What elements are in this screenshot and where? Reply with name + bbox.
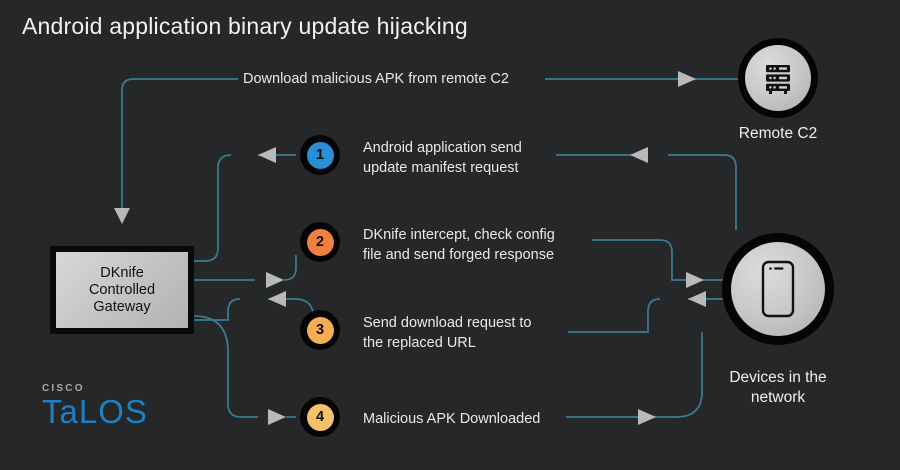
arrow-left-step1-gw	[258, 147, 276, 163]
arrow-right-step2-device	[686, 272, 704, 288]
devices-face	[731, 242, 825, 336]
devices-label: Devices in the network	[698, 368, 858, 408]
page-title: Android application binary update hijack…	[22, 13, 468, 40]
dknife-gateway-node: DKnife Controlled Gateway	[50, 246, 194, 334]
step-text-1: Android application send update manifest…	[363, 138, 522, 178]
step-text-2: DKnife intercept, check config file and …	[363, 225, 555, 265]
wire-step1-to-gateway	[194, 155, 231, 261]
step-text-3: Send download request to the replaced UR…	[363, 313, 532, 353]
arrow-left-step3-gw	[268, 291, 286, 307]
diagram-canvas: Android application binary update hijack…	[0, 0, 900, 470]
gateway-line-2: Controlled	[89, 282, 155, 299]
step-number-4: 4	[316, 409, 324, 425]
top-flow-label: Download malicious APK from remote C2	[243, 71, 509, 87]
step-number-2: 2	[316, 234, 324, 250]
step-badge-3-core: 3	[307, 317, 334, 344]
arrow-right-step4	[268, 409, 286, 425]
smartphone-icon	[755, 258, 801, 320]
arrow-right-to-c2	[678, 71, 696, 87]
wire-step4-from-gateway	[194, 316, 258, 417]
step-badge-1: 1	[300, 135, 340, 175]
arrow-left-step1-c2	[630, 147, 648, 163]
wire-step1-c2-corner	[724, 155, 736, 230]
arrow-down-into-gateway	[114, 208, 130, 224]
devices-node	[722, 233, 834, 345]
remote-c2-label: Remote C2	[698, 124, 858, 144]
remote-c2-node	[738, 38, 818, 118]
wire-step2-to-badge	[284, 255, 296, 280]
step-badge-3: 3	[300, 310, 340, 350]
step-badge-2: 2	[300, 222, 340, 262]
step-badge-4-core: 4	[307, 404, 334, 431]
remote-c2-face	[745, 45, 811, 111]
arrow-right-step4-device	[638, 409, 656, 425]
wire-step2-right	[592, 240, 688, 280]
gateway-face: DKnife Controlled Gateway	[56, 252, 188, 328]
cisco-talos-logo: CISCO TaLOS	[42, 383, 148, 429]
step-badge-1-core: 1	[307, 142, 334, 169]
talos-wordmark: TaLOS	[42, 395, 148, 429]
gateway-line-3: Gateway	[93, 299, 150, 316]
step-number-3: 3	[316, 322, 324, 338]
arrow-right-step2	[266, 272, 284, 288]
wire-step3-right	[568, 299, 660, 332]
arrow-left-step3-device	[688, 291, 706, 307]
gateway-line-1: DKnife	[100, 265, 144, 282]
step-number-1: 1	[316, 147, 324, 163]
step-badge-2-core: 2	[307, 229, 334, 256]
step-text-4: Malicious APK Downloaded	[363, 409, 540, 429]
server-rack-icon	[758, 58, 798, 98]
step-badge-4: 4	[300, 397, 340, 437]
wire-c2-download-left	[122, 79, 238, 210]
